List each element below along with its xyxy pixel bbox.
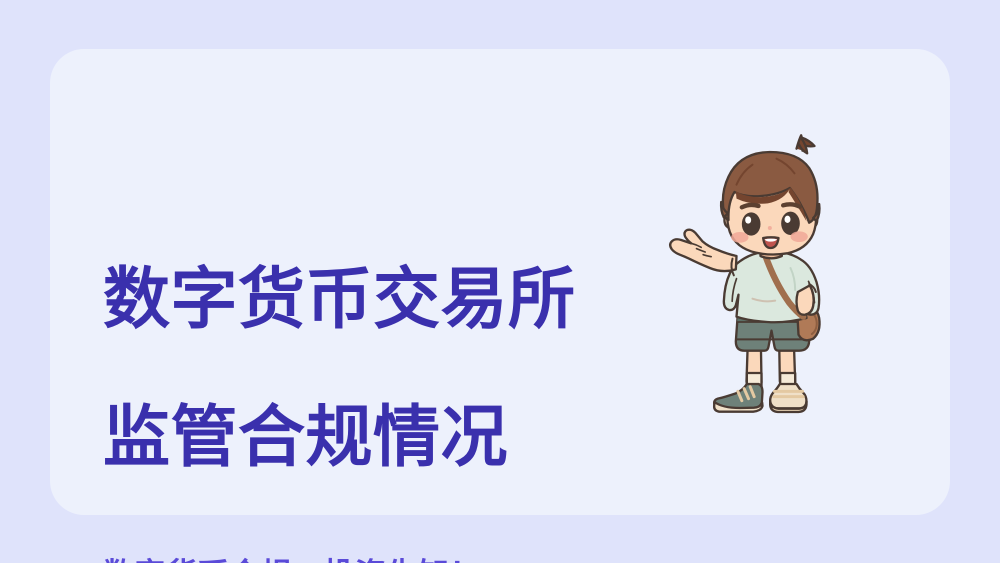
- shoes: [714, 384, 806, 412]
- page-title: 数字货币交易所 监管合规情况: [103, 196, 623, 541]
- pointing-boy-illustration: [650, 128, 875, 428]
- text-block: 数字货币交易所 监管合规情况 数字货币合规：投资先知！: [103, 196, 623, 563]
- title-line-1: 数字货币交易所: [103, 265, 623, 334]
- title-line-2: 监管合规情况: [103, 403, 623, 472]
- mouth: [763, 237, 778, 248]
- slide-canvas: 数字货币交易所 监管合规情况 数字货币合规：投资先知！: [0, 0, 1000, 563]
- pointing-arm: [670, 230, 736, 276]
- page-subtitle: 数字货币合规：投资先知！: [103, 558, 623, 563]
